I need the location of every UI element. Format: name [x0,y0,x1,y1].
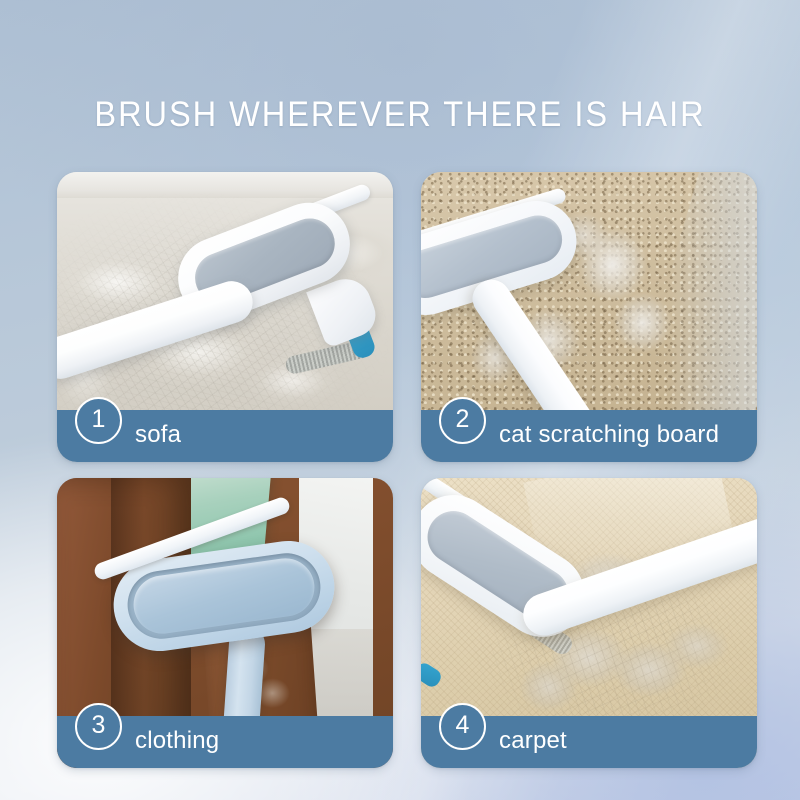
panel-carpet[interactable]: carpet 4 [421,478,757,768]
badge-number-4: 4 [439,703,486,750]
panel-sofa[interactable]: sofa 1 [57,172,393,462]
caption-label-cat-scratching-board: cat scratching board [499,423,719,449]
badge-number-3: 3 [75,703,122,750]
poster-canvas: BRUSH WHEREVER THERE IS HAIR sofa [0,0,800,800]
page-title: BRUSH WHEREVER THERE IS HAIR [28,94,772,136]
badge-number-4-text: 4 [456,713,470,738]
brush-pad [130,555,318,638]
badge-number-2: 2 [439,397,486,444]
panel-cat-scratching-board[interactable]: cat scratching board 2 [421,172,757,462]
badge-number-1: 1 [75,397,122,444]
caption-label-carpet: carpet [499,729,567,755]
caption-label-sofa: sofa [135,423,181,449]
badge-number-1-text: 1 [92,407,106,432]
brush-head-ring [123,549,325,643]
panel-grid: sofa 1 cat scratching b [57,172,757,768]
caption-label-clothing: clothing [135,729,219,755]
badge-number-3-text: 3 [92,713,106,738]
badge-number-2-text: 2 [456,407,470,432]
panel-clothing[interactable]: clothing 3 [57,478,393,768]
